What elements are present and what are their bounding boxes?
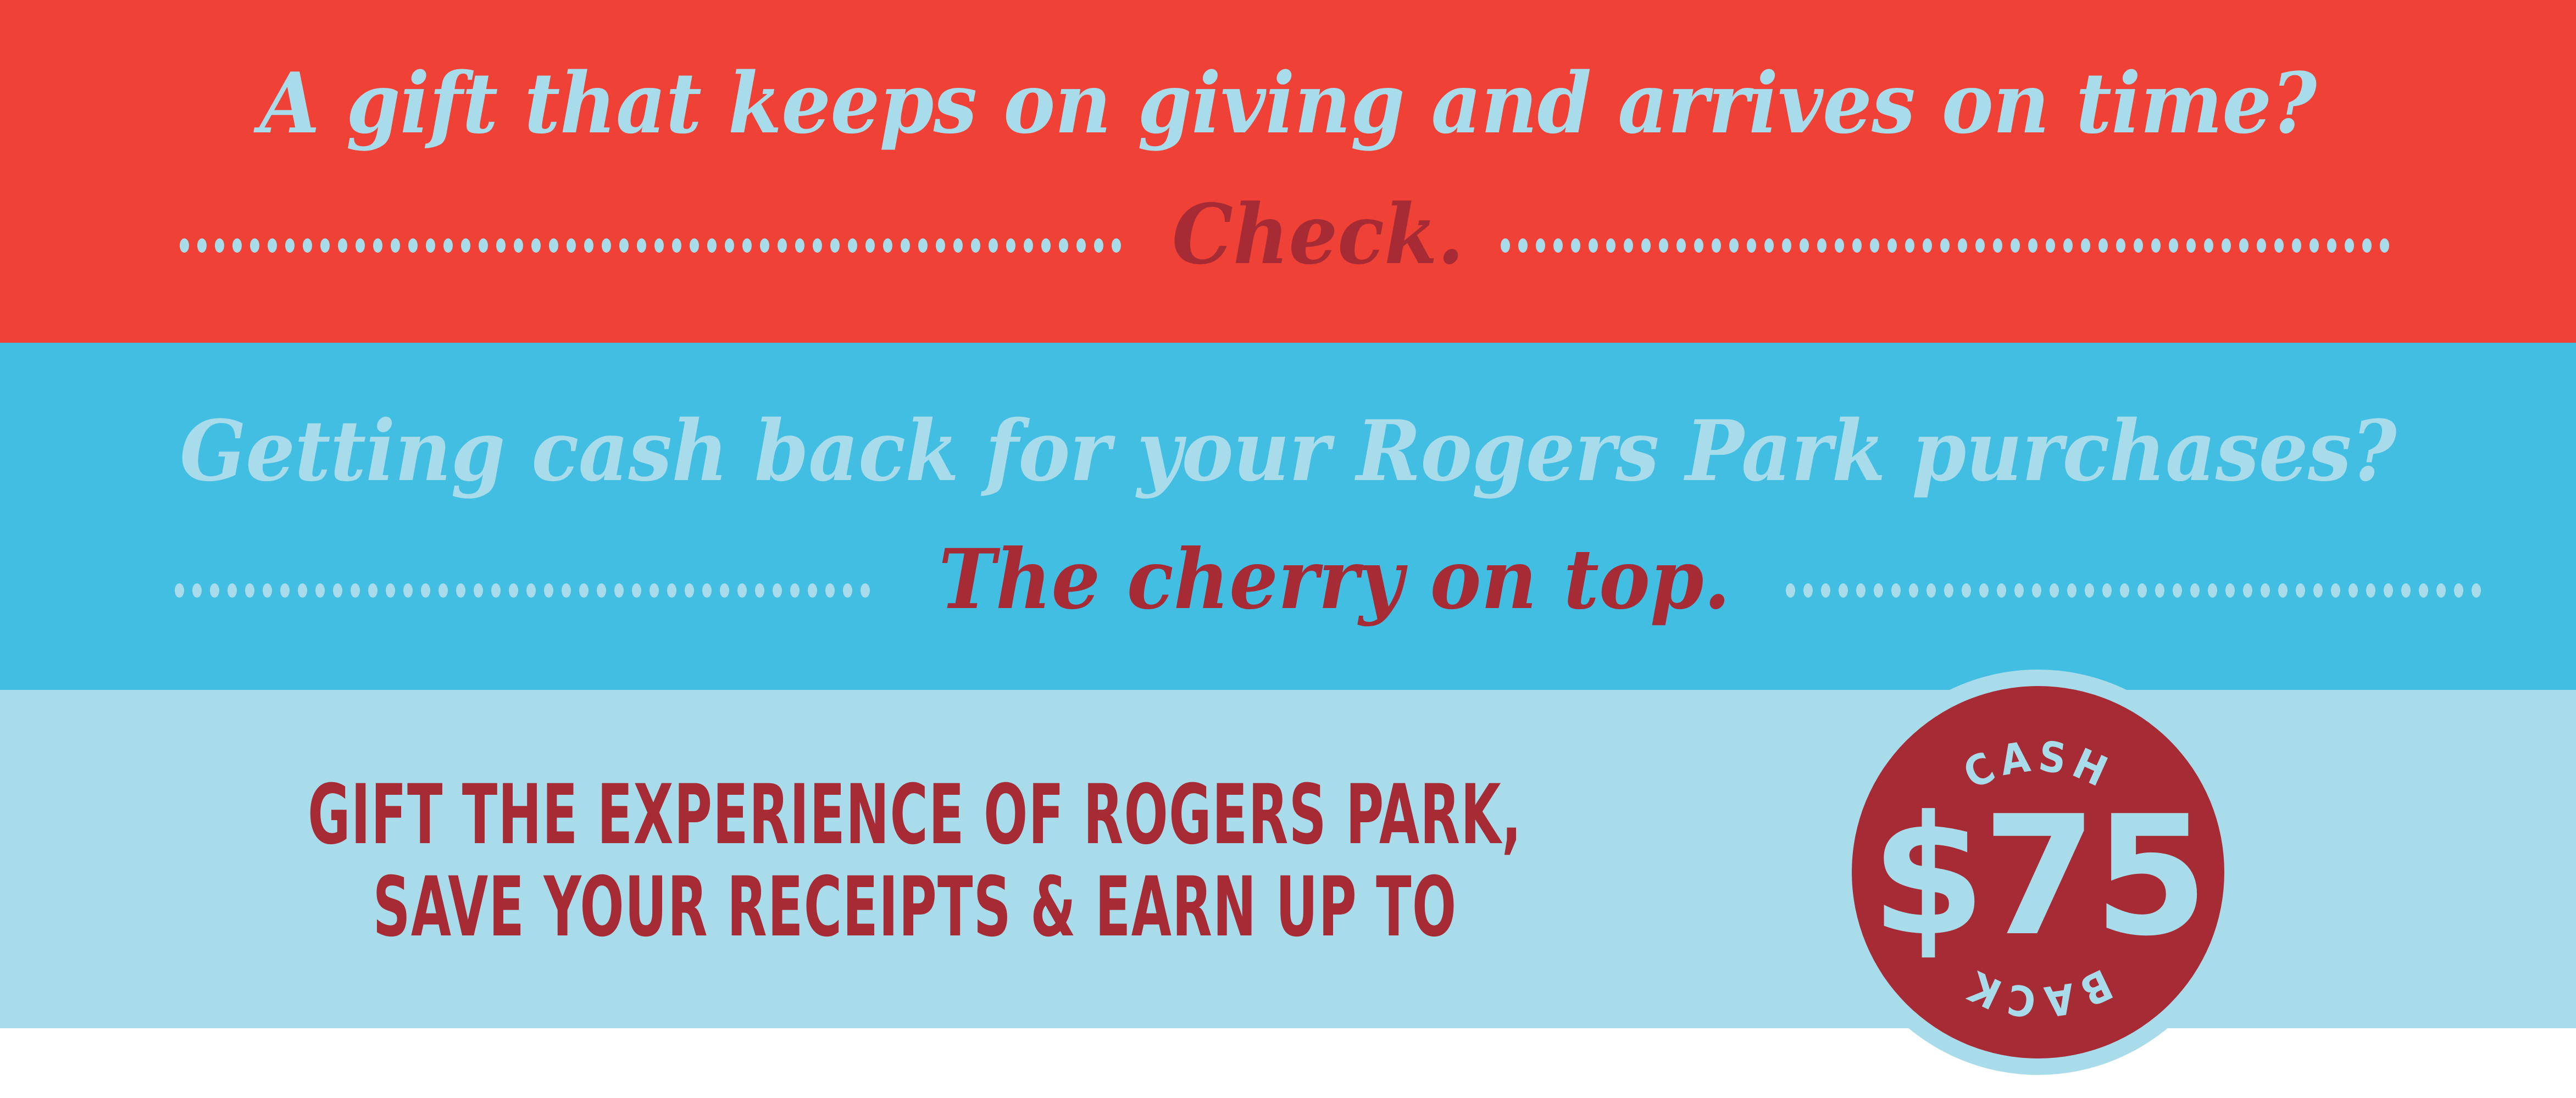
dotted-rule-left-blue xyxy=(175,583,884,605)
blue-band-punch-row: The cherry on top. xyxy=(0,522,2576,637)
cash-back-badge: CASH $75 BACK xyxy=(1835,670,2241,1075)
dotted-rule-left-red xyxy=(180,238,1136,260)
badge-amount: $75 xyxy=(1871,781,2205,972)
cta-line-two: SAVE YOUR RECEIPTS & EARN UP TO xyxy=(275,861,1556,954)
red-band-punchline: Check. xyxy=(1149,193,1488,276)
dotted-rule-right-blue xyxy=(1786,583,2500,605)
red-band-punch-row: Check. xyxy=(0,177,2576,292)
cta-line-one: GIFT THE EXPERIENCE OF ROGERS PARK, xyxy=(275,769,1556,861)
blue-band-headline: Getting cash back for your Rogers Park p… xyxy=(90,409,2486,493)
blue-band xyxy=(0,343,2576,690)
red-band-headline: A gift that keeps on giving and arrives … xyxy=(90,62,2486,145)
dotted-rule-right-red xyxy=(1501,238,2402,260)
blue-band-punchline: The cherry on top. xyxy=(915,538,1754,621)
cta-text-block: GIFT THE EXPERIENCE OF ROGERS PARK, SAVE… xyxy=(0,769,1830,954)
promo-banner: A gift that keeps on giving and arrives … xyxy=(0,0,2576,1098)
